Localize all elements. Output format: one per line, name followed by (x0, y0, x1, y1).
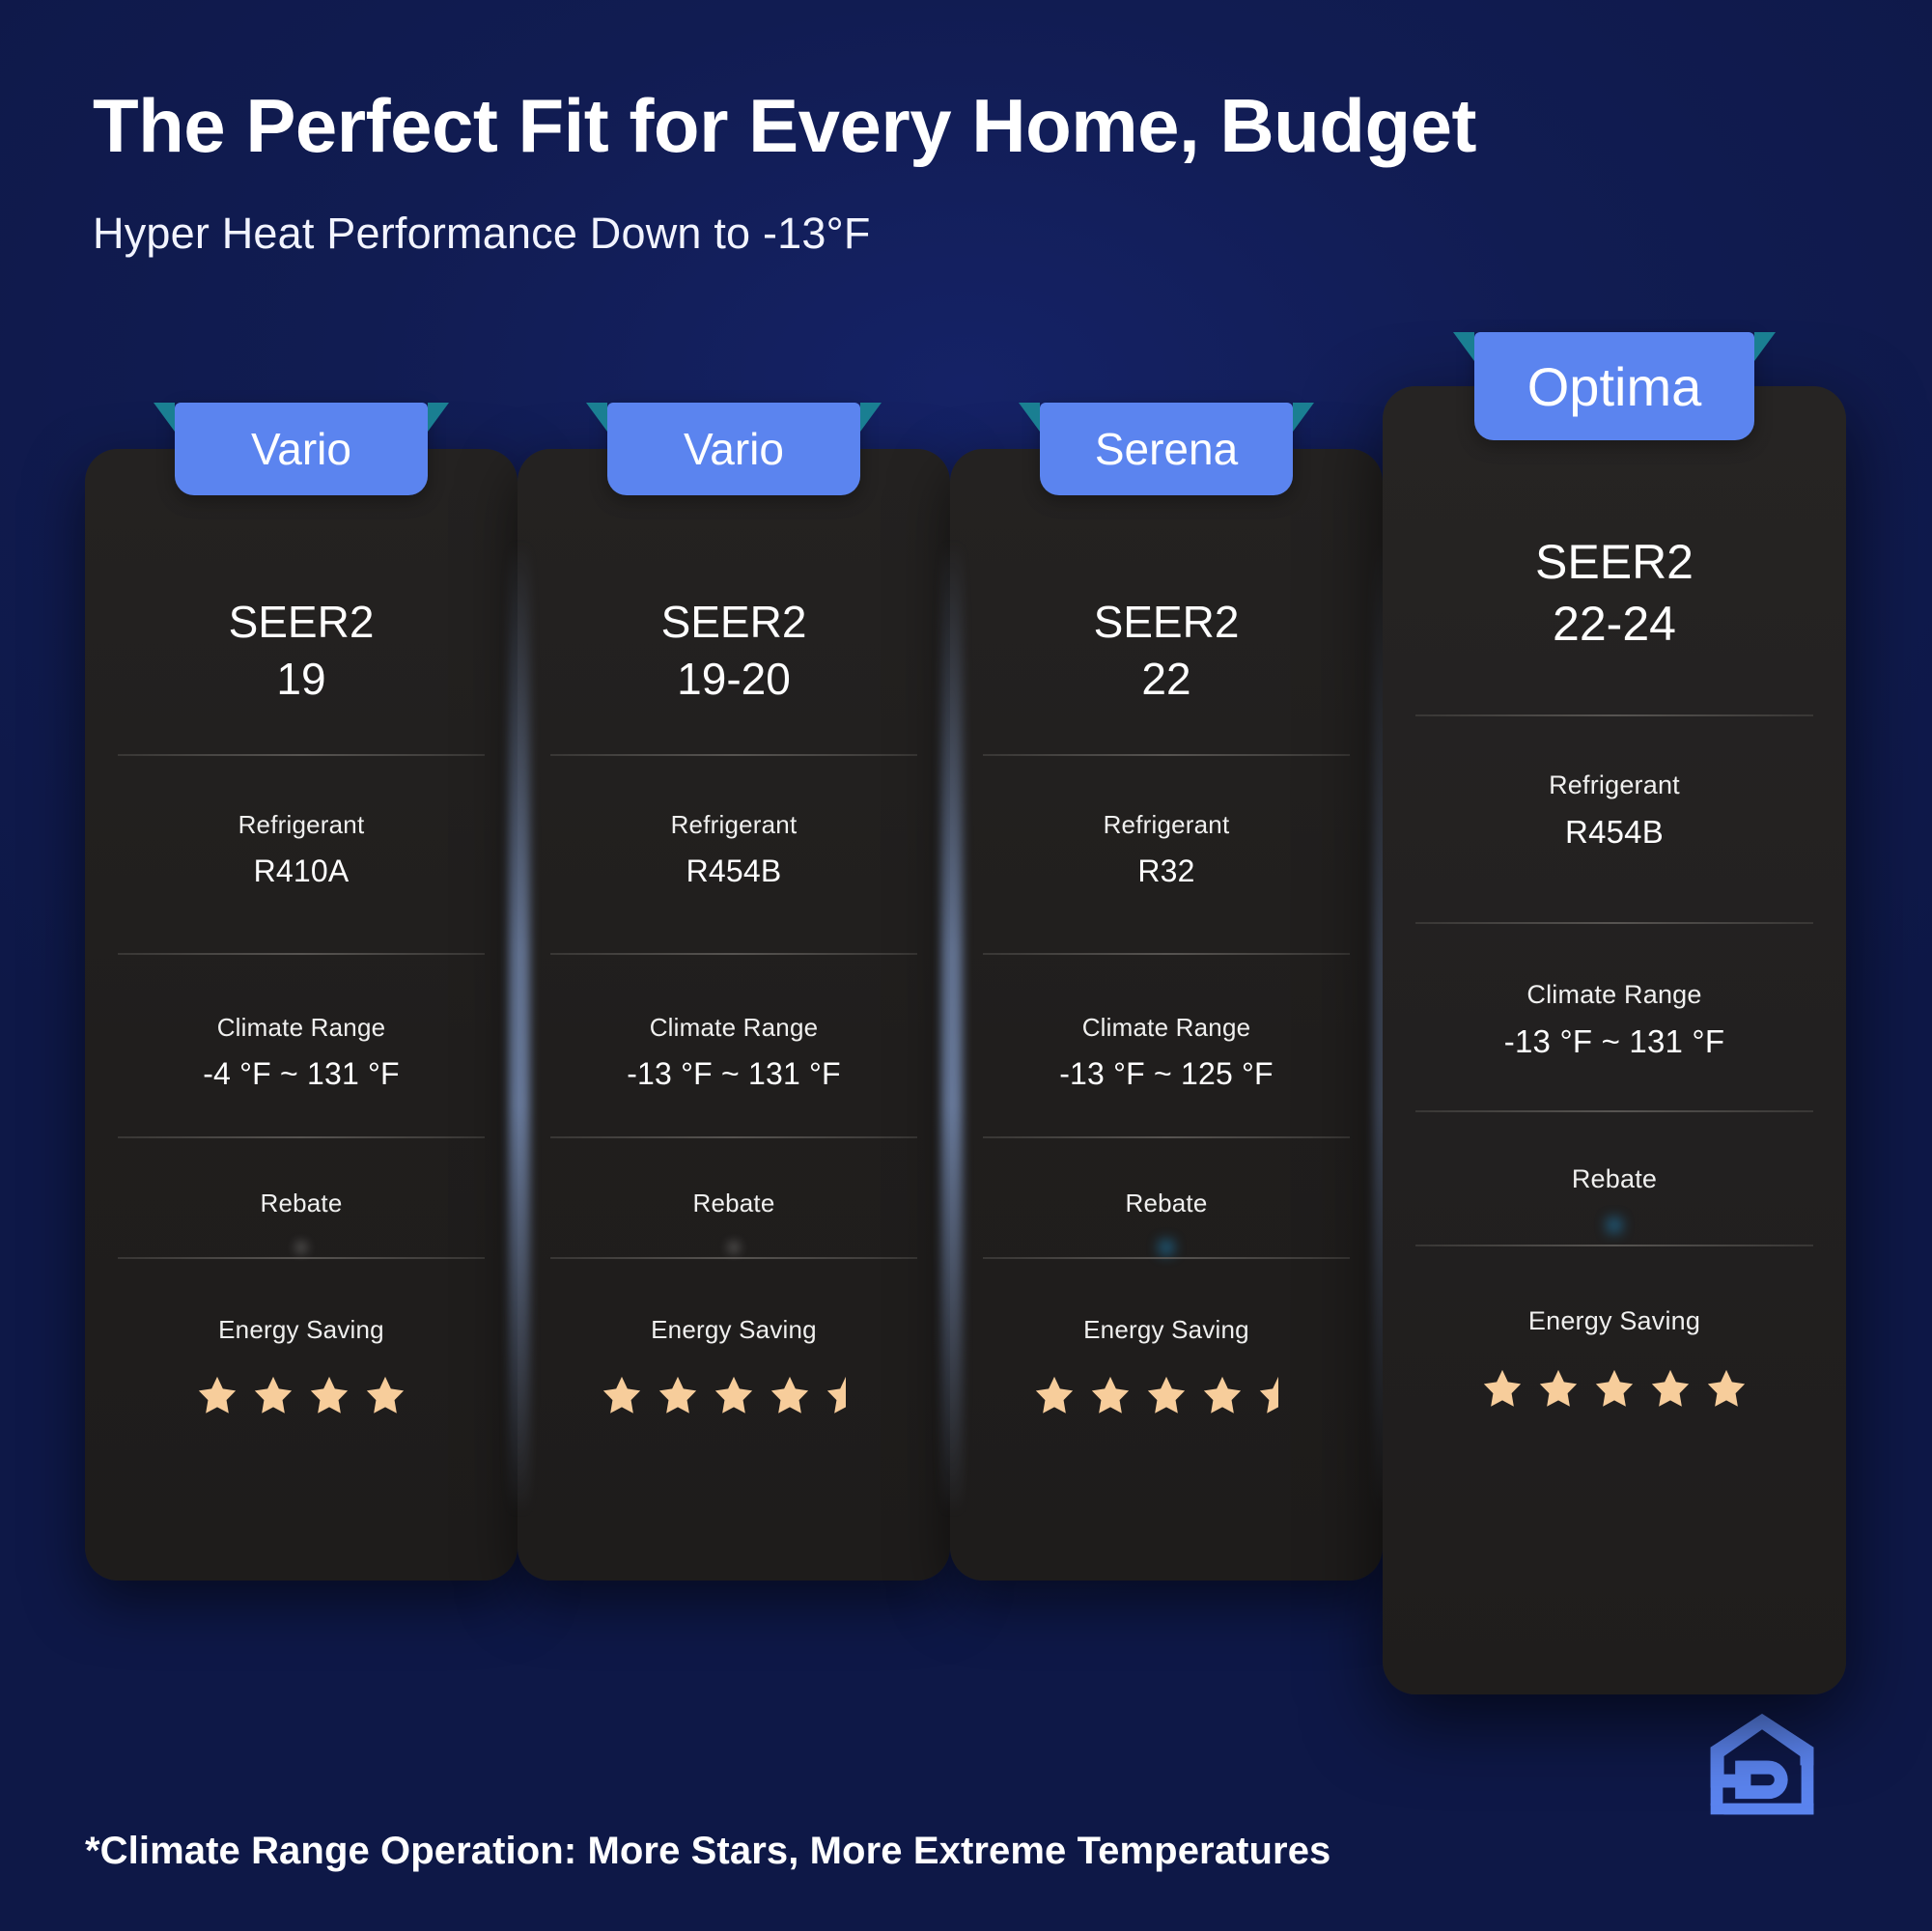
rebate-spec: Rebate (1415, 1164, 1813, 1194)
rebate-label: Rebate (550, 1189, 917, 1218)
product-name-label: Optima (1527, 355, 1702, 418)
climate-range-spec: Climate Range-13 °F ~ 125 °F (983, 1013, 1350, 1092)
ribbon-fold-left-icon (586, 403, 607, 432)
climate-range-label: Climate Range (550, 1013, 917, 1043)
ribbon-fold-left-icon (1019, 403, 1040, 432)
energy-saving-spec: Energy Saving (983, 1315, 1350, 1416)
product-name-ribbon[interactable]: Vario (175, 403, 428, 495)
star-full (1201, 1374, 1244, 1416)
seer-value: 22-24 (1415, 593, 1813, 655)
refrigerant-label: Refrigerant (118, 810, 485, 840)
ribbon-fold-right-icon (1293, 403, 1314, 432)
seer-block: SEER222 (983, 594, 1350, 708)
star-half (1257, 1374, 1300, 1416)
climate-range-value: -13 °F ~ 125 °F (983, 1056, 1350, 1092)
refrigerant-value: R454B (550, 854, 917, 889)
refrigerant-spec: RefrigerantR454B (1415, 770, 1813, 851)
divider-2 (1415, 922, 1813, 924)
ribbon-fold-left-icon (154, 403, 175, 432)
refrigerant-spec: RefrigerantR410A (118, 810, 485, 889)
divider-4 (118, 1257, 485, 1259)
seer-block: SEER222-24 (1415, 531, 1813, 655)
seer-value: 22 (983, 651, 1350, 708)
energy-saving-label: Energy Saving (550, 1315, 917, 1345)
energy-saving-label: Energy Saving (118, 1315, 485, 1345)
card-body: SEER222-24RefrigerantR454BClimate Range-… (1383, 386, 1846, 1694)
climate-range-spec: Climate Range-13 °F ~ 131 °F (550, 1013, 917, 1092)
energy-saving-label: Energy Saving (1415, 1306, 1813, 1336)
seer-label: SEER2 (550, 594, 917, 651)
star-full (1705, 1367, 1748, 1410)
house-logo-icon (1706, 1709, 1818, 1817)
climate-range-value: -4 °F ~ 131 °F (118, 1056, 485, 1092)
climate-range-spec: Climate Range-13 °F ~ 131 °F (1415, 980, 1813, 1060)
seer-label: SEER2 (983, 594, 1350, 651)
product-card-serena-3[interactable]: SEER222RefrigerantR32Climate Range-13 °F… (950, 449, 1383, 1581)
star-full (1593, 1367, 1636, 1410)
divider-3 (550, 1136, 917, 1138)
energy-saving-spec: Energy Saving (118, 1315, 485, 1416)
energy-saving-label: Energy Saving (983, 1315, 1350, 1345)
star-full (601, 1374, 643, 1416)
star-full (713, 1374, 755, 1416)
refrigerant-spec: RefrigerantR454B (550, 810, 917, 889)
divider-1 (1415, 714, 1813, 716)
ribbon-fold-right-icon (428, 403, 449, 432)
rebate-label: Rebate (1415, 1164, 1813, 1194)
product-name-ribbon[interactable]: Optima (1474, 332, 1754, 440)
refrigerant-label: Refrigerant (1415, 770, 1813, 800)
climate-range-value: -13 °F ~ 131 °F (550, 1056, 917, 1092)
product-card-optima-4[interactable]: SEER222-24RefrigerantR454BClimate Range-… (1383, 386, 1846, 1694)
seer-block: SEER219-20 (550, 594, 917, 708)
divider-1 (550, 754, 917, 756)
divider-2 (983, 953, 1350, 955)
climate-range-spec: Climate Range-4 °F ~ 131 °F (118, 1013, 485, 1092)
divider-4 (983, 1257, 1350, 1259)
star-full (1481, 1367, 1524, 1410)
rebate-spec: Rebate (118, 1189, 485, 1218)
refrigerant-label: Refrigerant (550, 810, 917, 840)
rebate-spec: Rebate (550, 1189, 917, 1218)
rebate-label: Rebate (983, 1189, 1350, 1218)
product-name-ribbon-wrap: Optima (1383, 332, 1846, 440)
divider-3 (118, 1136, 485, 1138)
star-full (364, 1374, 406, 1416)
card-body: SEER219RefrigerantR410AClimate Range-4 °… (85, 449, 518, 1581)
ribbon-fold-left-icon (1453, 332, 1474, 361)
product-name-ribbon-wrap: Serena (950, 403, 1383, 495)
product-name-label: Serena (1095, 423, 1238, 475)
star-full (196, 1374, 238, 1416)
star-full (769, 1374, 811, 1416)
divider-1 (118, 754, 485, 756)
refrigerant-label: Refrigerant (983, 810, 1350, 840)
ribbon-fold-right-icon (1754, 332, 1776, 361)
product-name-ribbon-wrap: Vario (85, 403, 518, 495)
star-full (657, 1374, 699, 1416)
energy-saving-stars (118, 1374, 485, 1416)
climate-range-label: Climate Range (118, 1013, 485, 1043)
ribbon-fold-right-icon (860, 403, 882, 432)
refrigerant-value: R32 (983, 854, 1350, 889)
climate-range-label: Climate Range (1415, 980, 1813, 1010)
seer-label: SEER2 (118, 594, 485, 651)
star-full (1537, 1367, 1580, 1410)
star-full (1033, 1374, 1076, 1416)
star-full (1649, 1367, 1692, 1410)
refrigerant-value: R454B (1415, 814, 1813, 851)
energy-saving-stars (983, 1374, 1350, 1416)
product-card-deck: SEER219RefrigerantR410AClimate Range-4 °… (0, 0, 1932, 1931)
energy-saving-stars (1415, 1367, 1813, 1410)
divider-3 (1415, 1110, 1813, 1112)
star-full (252, 1374, 294, 1416)
refrigerant-value: R410A (118, 854, 485, 889)
seer-block: SEER219 (118, 594, 485, 708)
star-full (1089, 1374, 1132, 1416)
divider-3 (983, 1136, 1350, 1138)
refrigerant-spec: RefrigerantR32 (983, 810, 1350, 889)
star-full (308, 1374, 350, 1416)
footnote: *Climate Range Operation: More Stars, Mo… (85, 1830, 1330, 1873)
product-name-ribbon[interactable]: Vario (607, 403, 860, 495)
rebate-spec: Rebate (983, 1189, 1350, 1218)
divider-1 (983, 754, 1350, 756)
star-half (825, 1374, 867, 1416)
divider-4 (1415, 1245, 1813, 1246)
product-name-ribbon[interactable]: Serena (1040, 403, 1293, 495)
star-full (1145, 1374, 1188, 1416)
energy-saving-spec: Energy Saving (1415, 1306, 1813, 1410)
infographic-page: The Perfect Fit for Every Home, Budget H… (0, 0, 1932, 1931)
energy-saving-stars (550, 1374, 917, 1416)
product-name-label: Vario (684, 423, 784, 475)
product-card-vario-1[interactable]: SEER219RefrigerantR410AClimate Range-4 °… (85, 449, 518, 1581)
energy-saving-spec: Energy Saving (550, 1315, 917, 1416)
card-body: SEER222RefrigerantR32Climate Range-13 °F… (950, 449, 1383, 1581)
seer-value: 19 (118, 651, 485, 708)
climate-range-value: -13 °F ~ 131 °F (1415, 1023, 1813, 1060)
product-name-ribbon-wrap: Vario (518, 403, 950, 495)
divider-4 (550, 1257, 917, 1259)
divider-2 (118, 953, 485, 955)
seer-label: SEER2 (1415, 531, 1813, 593)
divider-2 (550, 953, 917, 955)
product-card-vario-2[interactable]: SEER219-20RefrigerantR454BClimate Range-… (518, 449, 950, 1581)
card-body: SEER219-20RefrigerantR454BClimate Range-… (518, 449, 950, 1581)
product-name-label: Vario (251, 423, 351, 475)
climate-range-label: Climate Range (983, 1013, 1350, 1043)
rebate-label: Rebate (118, 1189, 485, 1218)
seer-value: 19-20 (550, 651, 917, 708)
